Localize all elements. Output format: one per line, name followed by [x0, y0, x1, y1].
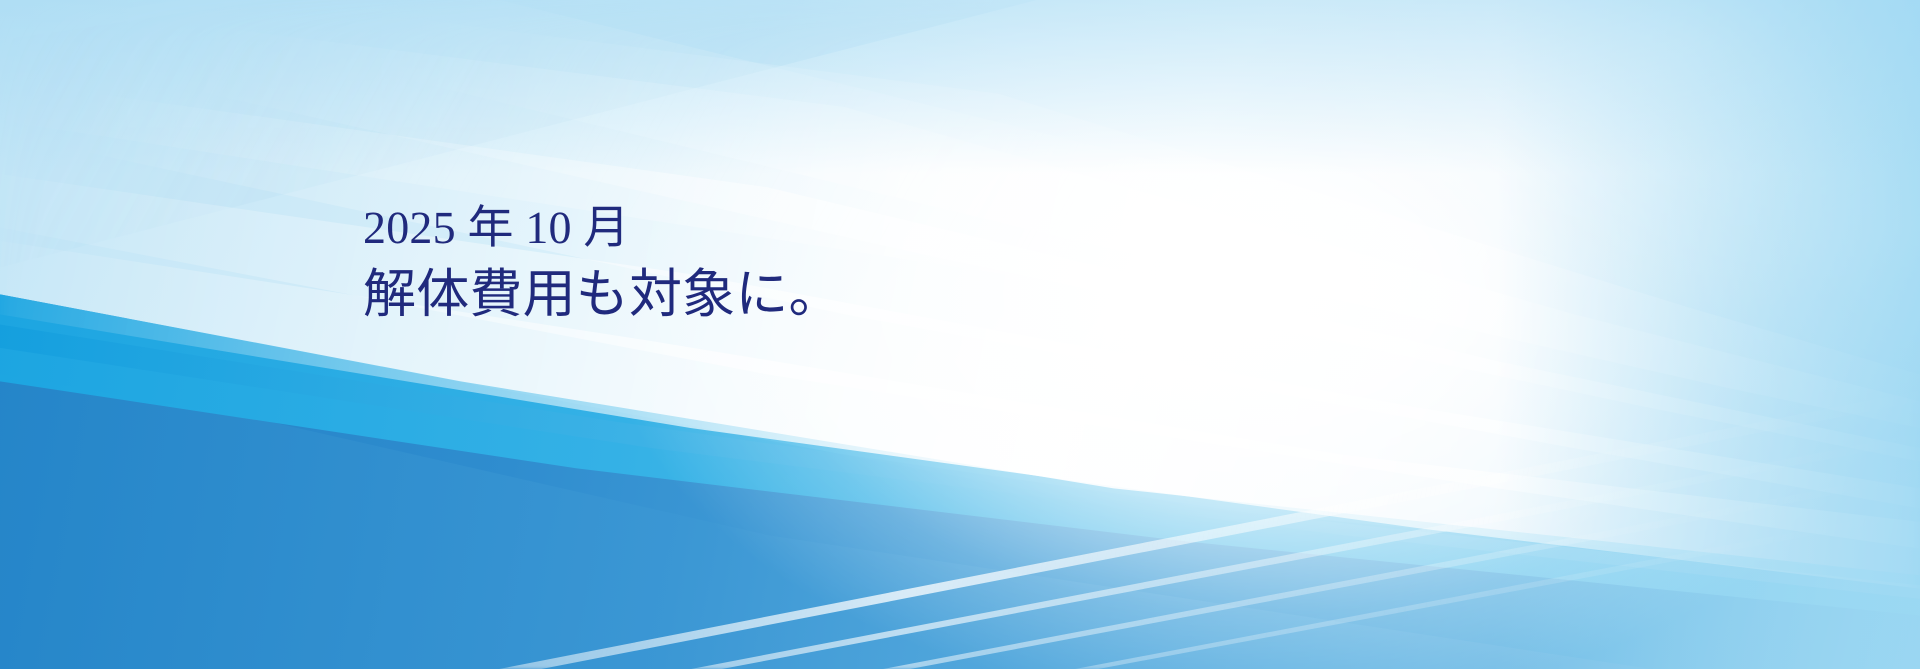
- background-light-stroke-3: [0, 0, 1920, 669]
- background-swoosh-2: [0, 0, 1920, 669]
- background-veil-primary: [0, 0, 1920, 669]
- background-light-stroke-1: [0, 0, 1920, 669]
- background-ribbon-cyan: [0, 0, 1920, 669]
- background-glow-top-right: [0, 0, 1920, 669]
- background-vignette-right: [0, 0, 1920, 669]
- background-wedge-deep-blue: [0, 0, 1920, 669]
- background-light-stroke-2: [0, 0, 1920, 669]
- background-swoosh-1: [0, 0, 1920, 669]
- background-light-stroke-4: [0, 0, 1920, 669]
- background-veil-secondary: [0, 0, 1920, 669]
- background-glow-center: [0, 0, 1920, 669]
- background-wedge-mid-blue: [0, 0, 1920, 669]
- hero-headline: 2025 年 10 月 解体費用も対象に。: [363, 198, 842, 331]
- background-glow-right-edge: [0, 0, 1920, 669]
- background-swoosh-4: [0, 0, 1920, 669]
- background-swoosh-5: [0, 0, 1920, 669]
- headline-line-message: 解体費用も対象に。: [363, 261, 842, 331]
- background-swoosh-3: [0, 0, 1920, 669]
- headline-line-date: 2025 年 10 月: [363, 198, 842, 259]
- background-ribbon-cyan-thin: [0, 0, 1920, 669]
- hero-banner: 2025 年 10 月 解体費用も対象に。: [0, 0, 1920, 669]
- background-vignette-top: [0, 0, 1920, 669]
